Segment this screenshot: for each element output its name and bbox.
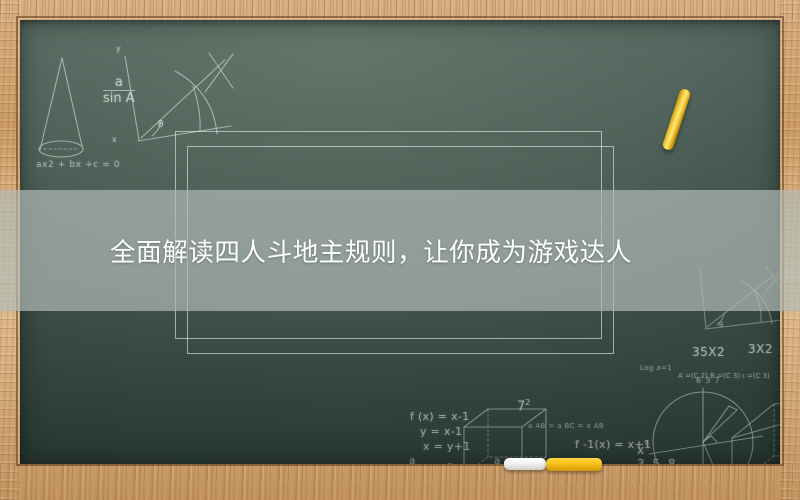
chalk-stick-white-ledge xyxy=(504,458,546,470)
frame-bottom-ledge xyxy=(0,464,800,500)
chalk-stick-yellow-ledge xyxy=(546,458,602,471)
chalkboard-banner: a sin A ax2 + bx +c = 0 y x θ xyxy=(0,0,800,500)
frame-top-rail xyxy=(0,0,800,20)
page-title: 全面解读四人斗地主规则，让你成为游戏达人 xyxy=(110,190,632,311)
